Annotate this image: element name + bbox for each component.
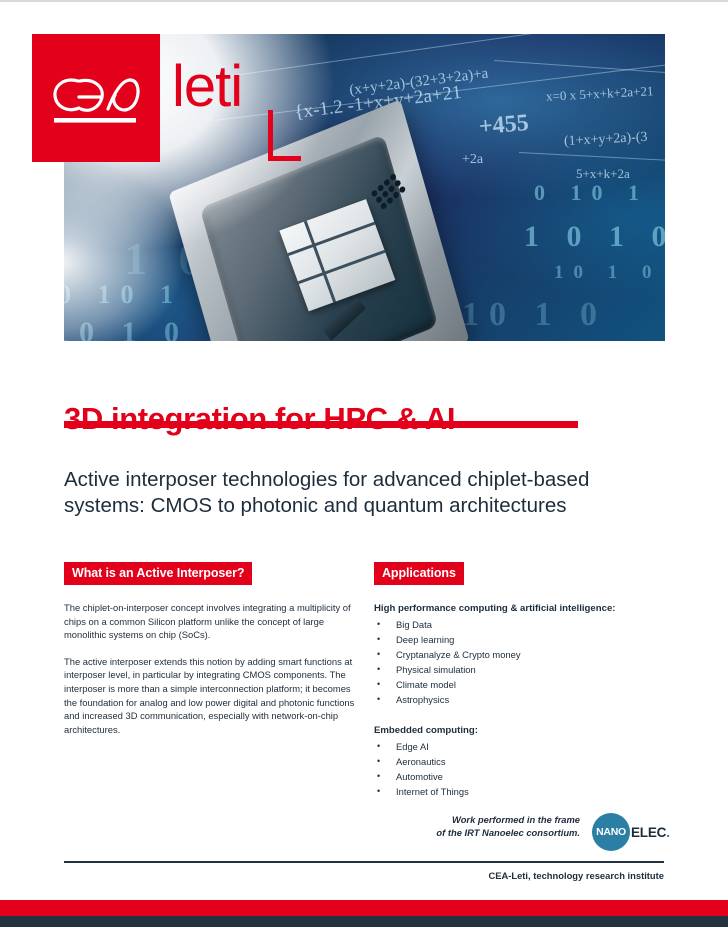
list-item: Deep learning (374, 632, 674, 647)
section-heading-badge: Applications (374, 562, 464, 585)
nanoelec-wordmark: ELEC. (631, 825, 670, 840)
list-item: Edge AI (374, 739, 674, 754)
list-item: Big Data (374, 617, 674, 632)
nanoelec-dot: . (666, 825, 670, 840)
paragraph: The chiplet-on-interposer concept involv… (64, 601, 364, 642)
list-item: Astrophysics (374, 692, 674, 707)
footer-bar-red (0, 900, 728, 916)
leti-wordmark: leti (172, 58, 242, 116)
page-subtitle: Active interposer technologies for advan… (64, 467, 624, 519)
list-item: Internet of Things (374, 784, 674, 799)
hero-binary: 0 10 1 0 (534, 180, 665, 206)
institute-name: CEA-Leti, technology research institute (488, 870, 664, 881)
list-item: Cryptanalyze & Crypto money (374, 647, 674, 662)
nanoelec-word: ELEC (631, 825, 666, 840)
application-group-title: Embedded computing: (374, 725, 674, 736)
consortium-credit: Work performed in the frame of the IRT N… (380, 814, 580, 839)
application-list-hpc: Big Data Deep learning Cryptanalyze & Cr… (374, 617, 674, 707)
paragraph: The active interposer extends this notio… (64, 655, 364, 737)
nanoelec-logo: NANO ELEC. (592, 813, 678, 851)
hero-equation: +455 (478, 110, 530, 141)
footer-bar-navy (0, 916, 728, 927)
list-item: Climate model (374, 677, 674, 692)
credit-line-2: of the IRT Nanoelec consortium. (436, 827, 580, 838)
section-heading-badge: What is an Active Interposer? (64, 562, 252, 585)
application-group-title: High performance computing & artificial … (374, 603, 674, 614)
list-item: Aeronautics (374, 754, 674, 769)
list-item: Automotive (374, 769, 674, 784)
leti-corner-accent (268, 110, 301, 161)
page-title: 3D integration for HPC & AI (64, 401, 664, 437)
cea-logo-block (32, 34, 160, 162)
hero-binary: 1 0 1 0 (524, 220, 665, 254)
title-underline-rule (64, 421, 578, 428)
section-active-interposer: What is an Active Interposer? The chiple… (64, 562, 364, 736)
hero-binary: 10 1 0 (554, 262, 662, 284)
hero-white-fade (64, 154, 284, 341)
document-page: (x+y+2a)-(32+3+2a)+a {x-1.2 -1+x+y+2a+21… (0, 0, 728, 925)
application-list-embedded: Edge AI Aeronautics Automotive Internet … (374, 739, 674, 799)
section-applications: Applications High performance computing … (374, 562, 674, 799)
footer-divider (64, 861, 664, 863)
nanoelec-circle-mark: NANO (592, 813, 630, 851)
cea-logo-icon (48, 69, 144, 127)
credit-line-1: Work performed in the frame (452, 814, 580, 825)
list-item: Physical simulation (374, 662, 674, 677)
